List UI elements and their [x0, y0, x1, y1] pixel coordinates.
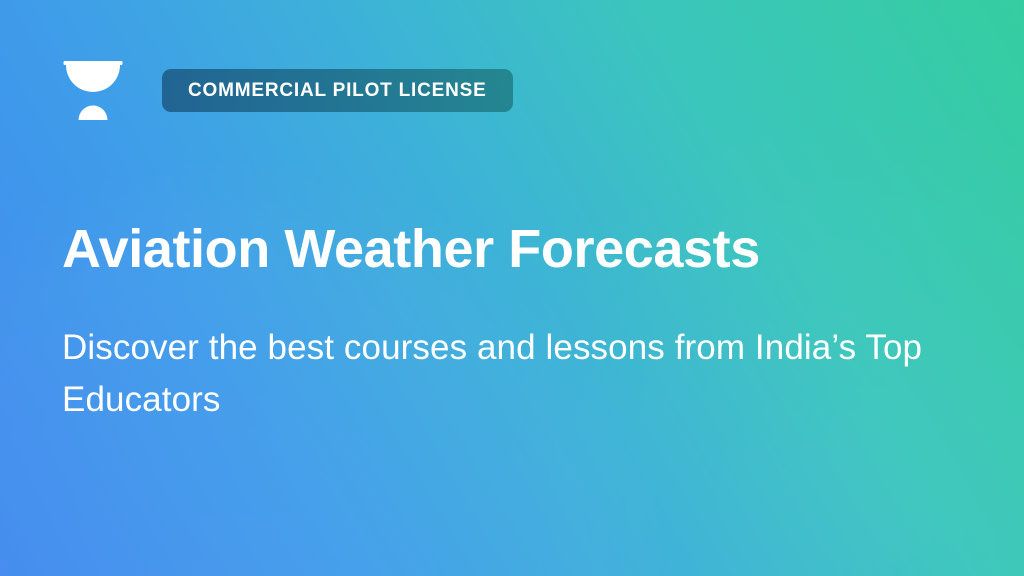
unacademy-bowl-logo-icon	[62, 58, 124, 122]
page-title: Aviation Weather Forecasts	[62, 219, 760, 279]
hero-banner: COMMERCIAL PILOT LICENSE Aviation Weathe…	[0, 0, 1024, 576]
page-subtitle: Discover the best courses and lessons fr…	[62, 322, 962, 426]
banner-header-row: COMMERCIAL PILOT LICENSE	[62, 58, 513, 122]
category-badge[interactable]: COMMERCIAL PILOT LICENSE	[162, 69, 513, 112]
category-badge-label: COMMERCIAL PILOT LICENSE	[188, 81, 487, 100]
